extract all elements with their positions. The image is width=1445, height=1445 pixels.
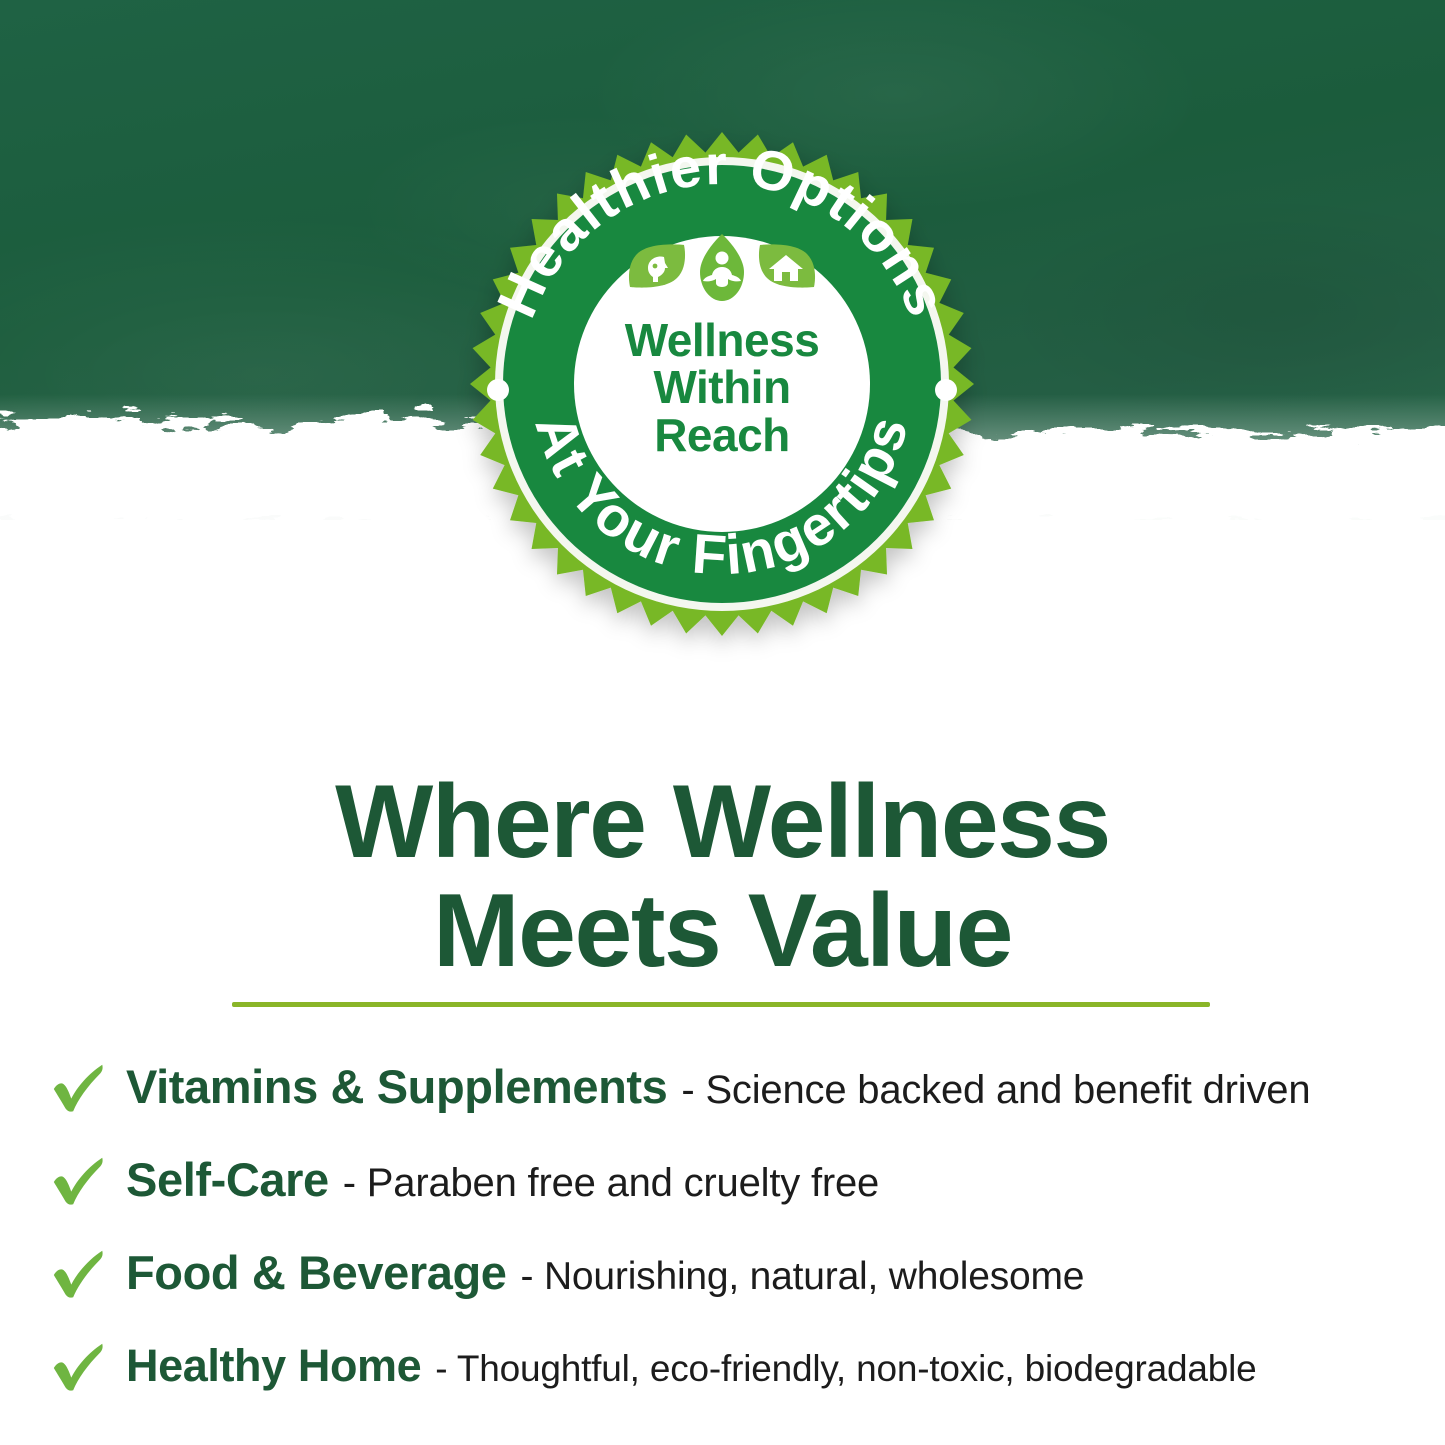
- headline-divider: [232, 1002, 1210, 1007]
- benefit-category: Healthy Home: [126, 1340, 421, 1392]
- badge-dot-left: [487, 379, 509, 401]
- checkmark-icon: [48, 1149, 110, 1211]
- promo-page: Healthier Options At Your Fingertips: [0, 0, 1445, 1445]
- headline-line-1: Where Wellness: [335, 764, 1110, 880]
- checkmark-icon: [48, 1335, 110, 1397]
- list-item: Self-Care - Paraben free and cruelty fre…: [48, 1133, 1428, 1226]
- badge-dot-right: [935, 379, 957, 401]
- benefit-description: - Paraben free and cruelty free: [343, 1161, 879, 1206]
- benefit-category: Self-Care: [126, 1152, 329, 1207]
- benefit-description: - Nourishing, natural, wholesome: [521, 1255, 1085, 1299]
- checkmark-icon: [48, 1056, 110, 1118]
- headline-line-2: Meets Value: [0, 877, 1445, 986]
- list-item: Vitamins & Supplements - Science backed …: [48, 1040, 1428, 1133]
- benefit-description: - Science backed and benefit driven: [681, 1068, 1310, 1113]
- checkmark-icon: [48, 1242, 110, 1304]
- page-headline: Where Wellness Meets Value: [0, 768, 1445, 986]
- benefit-category: Vitamins & Supplements: [126, 1059, 667, 1114]
- list-item: Food & Beverage - Nourishing, natural, w…: [48, 1226, 1428, 1319]
- benefit-description: - Thoughtful, eco-friendly, non-toxic, b…: [435, 1348, 1256, 1390]
- list-item: Healthy Home - Thoughtful, eco-friendly,…: [48, 1319, 1428, 1412]
- benefits-list: Vitamins & Supplements - Science backed …: [48, 1040, 1428, 1412]
- wellness-badge: Healthier Options At Your Fingertips: [452, 112, 992, 657]
- benefit-category: Food & Beverage: [126, 1245, 507, 1300]
